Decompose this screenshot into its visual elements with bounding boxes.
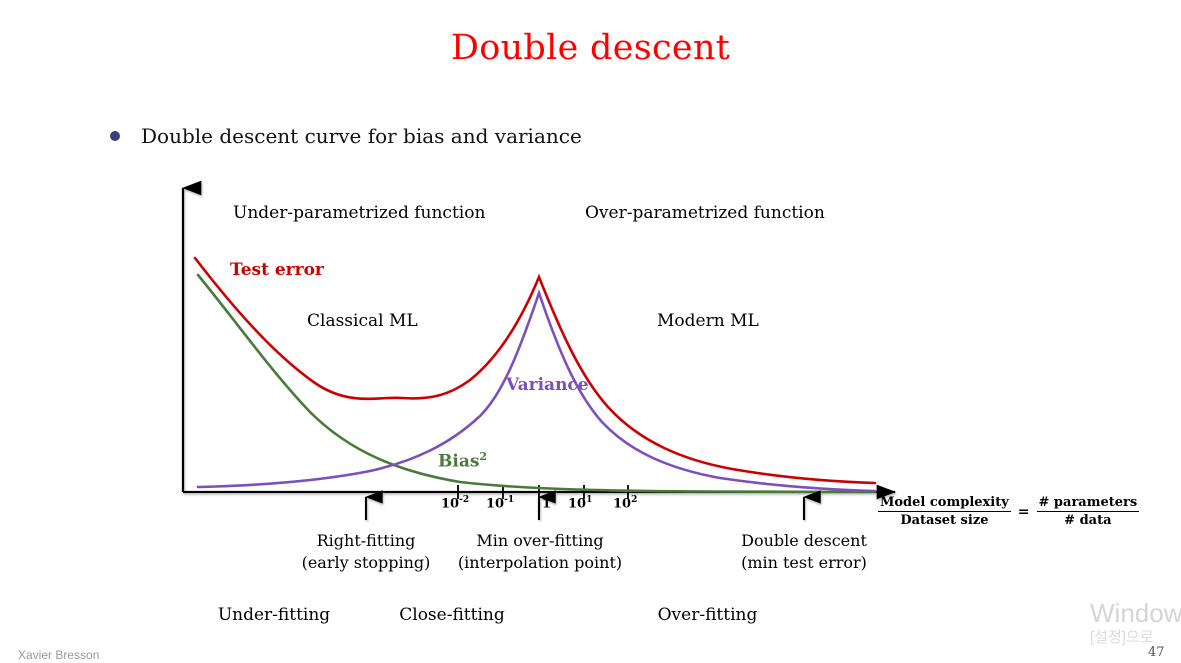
- page-title: Double descent: [0, 28, 1181, 68]
- top-region-label-under-parametrized: Under-parametrized function: [233, 203, 485, 223]
- bias-squared-label-base: Bias: [438, 452, 479, 472]
- annotation-right-fitting: Right-fitting (early stopping): [281, 530, 451, 574]
- formula-equals-sign: =: [1018, 504, 1030, 520]
- formula-right-denominator: # data: [1037, 512, 1140, 528]
- annotation-line-1: Double descent: [714, 530, 894, 552]
- tick-mantissa: 1: [542, 496, 551, 511]
- test-error-curve: [195, 258, 875, 483]
- classical-ml-label: Classical ML: [307, 311, 418, 331]
- x-tick-label-0: 10-2: [441, 495, 469, 511]
- footer-author: Xavier Bresson: [18, 648, 99, 662]
- slide-canvas: Double descent Double descent curve for …: [0, 0, 1181, 663]
- tick-mantissa: 10: [613, 496, 631, 511]
- x-axis-formula-left-fraction: Model complexity Dataset size: [878, 495, 1011, 528]
- top-region-label-over-parametrized: Over-parametrized function: [585, 203, 825, 223]
- formula-left-numerator: Model complexity: [878, 495, 1011, 512]
- variance-label: Variance: [506, 375, 589, 395]
- x-axis-formula: Model complexity Dataset size = # parame…: [878, 495, 1139, 528]
- bias-squared-label-exponent: 2: [479, 450, 487, 463]
- annotation-line-1: Right-fitting: [281, 530, 451, 552]
- bullet-item-label: Double descent curve for bias and varian…: [141, 124, 582, 148]
- x-tick-label-4: 102: [613, 495, 637, 511]
- watermark-line-2: [설정]으로: [1090, 628, 1181, 648]
- x-axis-formula-right-fraction: # parameters # data: [1037, 495, 1140, 528]
- modern-ml-label: Modern ML: [657, 311, 759, 331]
- tick-exponent: -1: [504, 495, 514, 505]
- x-tick-label-2: 1: [542, 495, 551, 511]
- tick-mantissa: 10: [441, 496, 459, 511]
- bottom-region-label-under-fitting: Under-fitting: [188, 605, 360, 625]
- formula-left-denominator: Dataset size: [878, 512, 1011, 528]
- watermark-line-1: Window: [1090, 598, 1181, 628]
- annotation-double-descent: Double descent (min test error): [714, 530, 894, 574]
- tick-mantissa: 10: [568, 496, 586, 511]
- bottom-region-label-over-fitting: Over-fitting: [542, 605, 873, 625]
- tick-exponent: 2: [631, 495, 637, 505]
- bullet-dot-icon: [110, 131, 120, 141]
- bias-squared-label: Bias2: [438, 450, 487, 472]
- test-error-label: Test error: [230, 260, 324, 280]
- tick-mantissa: 10: [486, 496, 504, 511]
- formula-right-numerator: # parameters: [1037, 495, 1140, 512]
- annotation-line-2: (min test error): [714, 552, 894, 574]
- tick-exponent: -2: [459, 495, 469, 505]
- bottom-region-label-close-fitting: Close-fitting: [372, 605, 532, 625]
- x-tick-label-1: 10-1: [486, 495, 514, 511]
- annotation-min-over-fitting: Min over-fitting (interpolation point): [440, 530, 640, 574]
- annotation-line-2: (early stopping): [281, 552, 451, 574]
- page-number: 47: [1148, 645, 1165, 660]
- annotation-line-2: (interpolation point): [440, 552, 640, 574]
- double-descent-figure: Under-parametrized function Over-paramet…: [150, 170, 1150, 640]
- tick-exponent: 1: [586, 495, 592, 505]
- annotation-line-1: Min over-fitting: [440, 530, 640, 552]
- bullet-item: Double descent curve for bias and varian…: [110, 124, 582, 148]
- windows-activation-watermark: Window [설정]으로: [1090, 598, 1181, 648]
- x-tick-label-3: 101: [568, 495, 592, 511]
